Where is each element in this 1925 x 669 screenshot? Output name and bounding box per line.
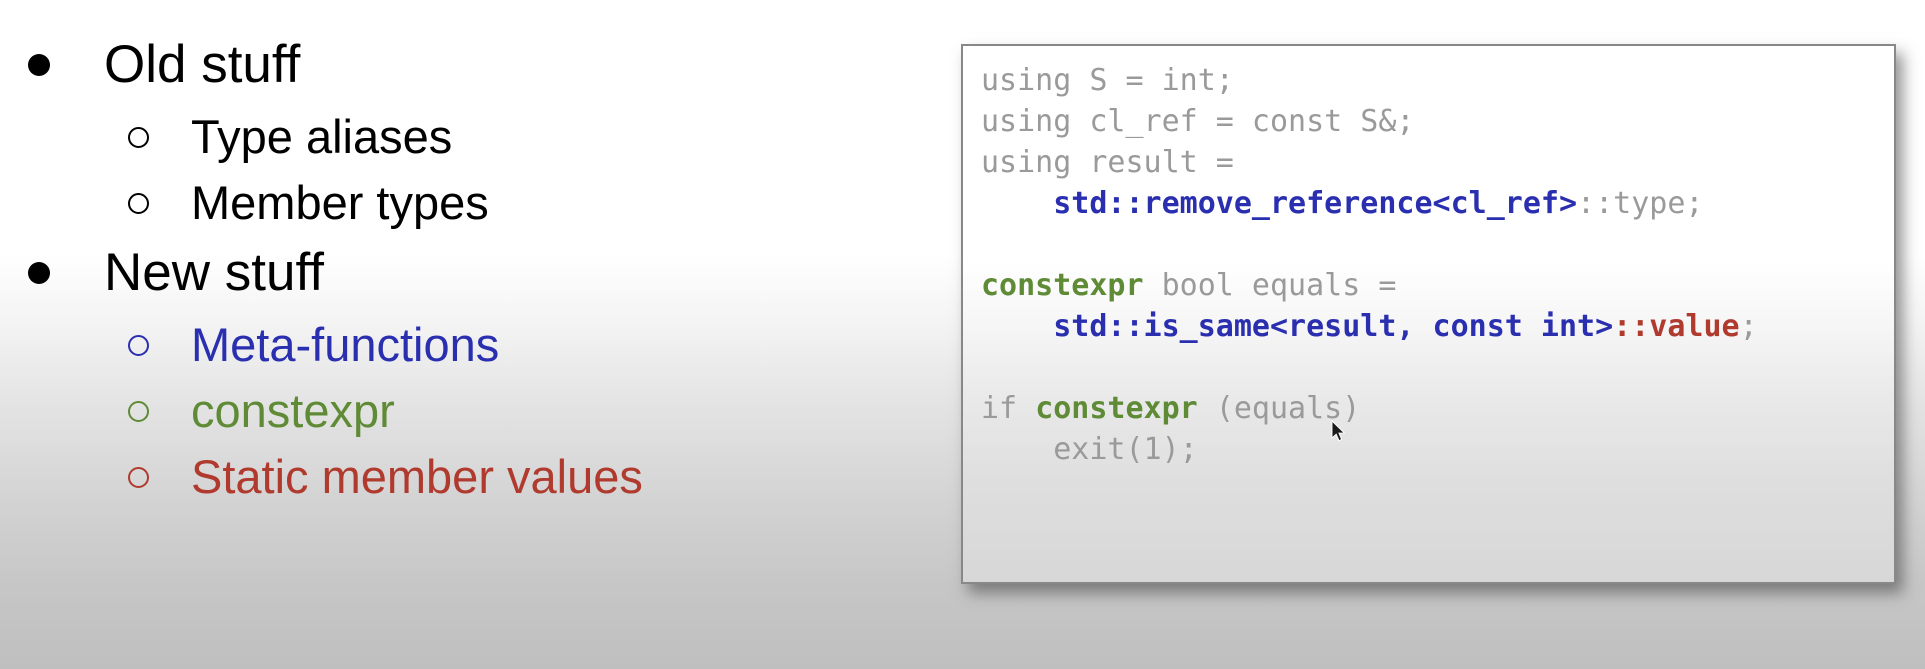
code-panel: using S = int;using cl_ref = const S&;us… xyxy=(961,44,1896,584)
bullet-item: Member types xyxy=(0,170,880,236)
code-line: std::remove_reference<cl_ref>::type; xyxy=(981,183,1758,224)
hollow-bullet-icon xyxy=(128,335,149,356)
code-token-plain: if xyxy=(981,391,1035,426)
bullet-item: Type aliases xyxy=(0,104,880,170)
code-token-kw: constexpr xyxy=(1035,391,1198,426)
bullet-list: Old stuffType aliasesMember typesNew stu… xyxy=(0,28,880,510)
code-token-plain xyxy=(981,186,1053,221)
code-token-plain: ::type; xyxy=(1577,186,1703,221)
code-token-plain xyxy=(981,309,1053,344)
code-line: using cl_ref = const S&; xyxy=(981,101,1758,142)
code-line: exit(1); xyxy=(981,429,1758,470)
code-line: using result = xyxy=(981,142,1758,183)
code-token-plain: using S = int; xyxy=(981,63,1234,98)
code-token-plain: bool equals = xyxy=(1144,268,1397,303)
bullet-label: constexpr xyxy=(191,378,395,444)
code-line xyxy=(981,224,1758,265)
bullet-item: New stuff xyxy=(0,236,880,310)
code-token-plain: using result = xyxy=(981,145,1234,180)
hollow-bullet-icon xyxy=(128,401,149,422)
code-token-value: :: xyxy=(1613,309,1649,344)
bullet-label: Type aliases xyxy=(191,104,452,170)
filled-bullet-icon xyxy=(28,262,50,284)
code-block: using S = int;using cl_ref = const S&;us… xyxy=(981,60,1758,470)
code-token-type: std::is_same<result, const int> xyxy=(1053,309,1613,344)
code-token-plain: ; xyxy=(1740,309,1758,344)
code-token-type: std::remove_reference<cl_ref> xyxy=(1053,186,1577,221)
bullet-label: New stuff xyxy=(104,236,324,310)
code-token-value: value xyxy=(1649,309,1739,344)
code-token-plain: exit(1); xyxy=(981,432,1198,467)
bullet-label: Meta-functions xyxy=(191,312,499,378)
code-token-plain: (equals) xyxy=(1198,391,1361,426)
code-line: if constexpr (equals) xyxy=(981,388,1758,429)
code-token-kw: constexpr xyxy=(981,268,1144,303)
code-token-plain: using cl_ref = const S&; xyxy=(981,104,1414,139)
bullet-label: Static member values xyxy=(191,444,643,510)
bullet-label: Member types xyxy=(191,170,489,236)
bullet-item: constexpr xyxy=(0,378,880,444)
presentation-slide: Old stuffType aliasesMember typesNew stu… xyxy=(0,0,1925,669)
hollow-bullet-icon xyxy=(128,467,149,488)
bullet-item: Static member values xyxy=(0,444,880,510)
code-line: constexpr bool equals = xyxy=(981,265,1758,306)
hollow-bullet-icon xyxy=(128,127,149,148)
bullet-item: Old stuff xyxy=(0,28,880,102)
filled-bullet-icon xyxy=(28,54,50,76)
code-line xyxy=(981,347,1758,388)
bullet-item: Meta-functions xyxy=(0,312,880,378)
bullet-label: Old stuff xyxy=(104,28,300,102)
code-line: using S = int; xyxy=(981,60,1758,101)
code-line: std::is_same<result, const int>::value; xyxy=(981,306,1758,347)
hollow-bullet-icon xyxy=(128,193,149,214)
